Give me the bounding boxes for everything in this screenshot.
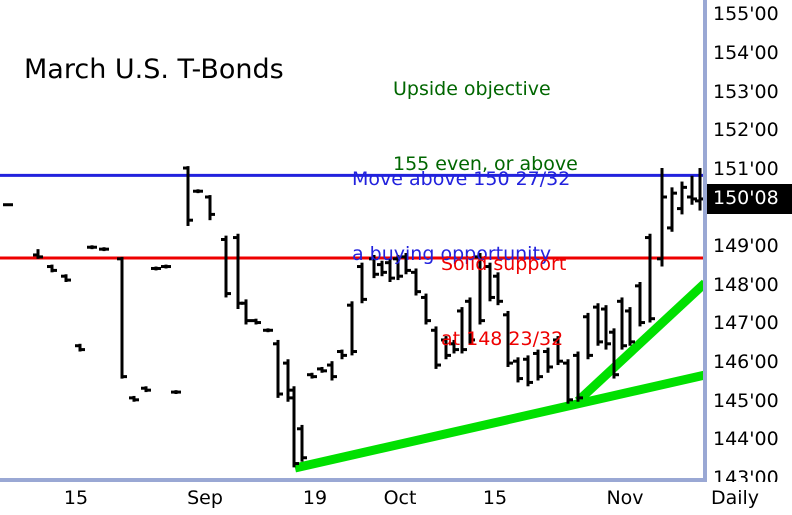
last-price-badge: 150'08 (707, 184, 792, 214)
price-axis-label: 151'00 (713, 158, 779, 180)
ohlc-bar (171, 390, 181, 394)
annotation-upside-line1: Upside objective (393, 77, 578, 102)
time-axis-label: Oct (384, 487, 417, 509)
annotation-breakout-line1: Move above 150 27/32 (352, 167, 570, 192)
ohlc-bar (297, 425, 307, 462)
price-axis[interactable]: 143'00144'00145'00146'00147'00148'00149'… (707, 0, 792, 479)
time-axis-label: Nov (606, 487, 643, 509)
ohlc-bar (141, 386, 151, 392)
ohlc-bar (337, 350, 347, 360)
ohlc-bar (75, 344, 85, 352)
ohlc-bar (273, 340, 283, 398)
ohlc-bar (233, 234, 243, 309)
ohlc-bar (129, 396, 139, 402)
ohlc-bar (205, 195, 215, 220)
interval-label: Daily (711, 487, 759, 509)
annotation-support-line2: at 148 23/32 (441, 327, 566, 352)
time-axis-label: 19 (303, 487, 327, 509)
time-axis-label: Sep (187, 487, 223, 509)
chart-title: March U.S. T-Bonds (24, 54, 284, 85)
chart-application: March U.S. T-Bonds Upside objective 155 … (0, 0, 792, 515)
ohlc-bar (47, 265, 57, 273)
ohlc-bar (677, 182, 687, 215)
ohlc-bar (87, 245, 97, 249)
ohlc-bar (645, 234, 655, 323)
price-axis-label: 148'00 (713, 274, 779, 296)
ohlc-bar (241, 299, 251, 324)
ohlc-bar (117, 257, 127, 379)
ohlc-bar (625, 307, 635, 346)
ohlc-bar (307, 373, 317, 379)
ohlc-bar (61, 274, 71, 282)
price-axis-label: 149'00 (713, 235, 779, 257)
ohlc-bar (151, 267, 161, 271)
price-axis-label: 154'00 (713, 42, 779, 64)
ohlc-bar (617, 297, 627, 349)
ohlc-bar (251, 319, 261, 325)
ohlc-bar (193, 189, 203, 193)
annotation-solid-support: Solid support at 148 23/32 (441, 202, 566, 402)
ohlc-bar (431, 326, 441, 368)
ohlc-bar (657, 168, 667, 267)
time-axis-label: 15 (483, 487, 507, 509)
ohlc-bar (635, 282, 645, 326)
ohlc-bar (263, 328, 273, 332)
price-axis-label: 153'00 (713, 81, 779, 103)
price-axis-label: 152'00 (713, 119, 779, 141)
price-axis-label: 147'00 (713, 312, 779, 334)
ohlc-bar (667, 187, 677, 231)
ohlc-bar (327, 361, 337, 380)
last-price-value: 150'08 (713, 187, 779, 209)
price-axis-label: 144'00 (713, 428, 779, 450)
price-axis-label: 155'00 (713, 3, 779, 25)
ohlc-bar (161, 265, 171, 269)
ohlc-bar (221, 236, 231, 298)
price-axis-label: 146'00 (713, 351, 779, 373)
ohlc-bar (99, 247, 109, 251)
annotation-support-line1: Solid support (441, 252, 566, 277)
time-axis-label: 15 (64, 487, 88, 509)
ohlc-bar (583, 313, 593, 359)
price-axis-label: 145'00 (713, 390, 779, 412)
ohlc-bar (283, 359, 293, 401)
ohlc-bar (317, 367, 327, 373)
time-axis[interactable]: Nov15Oct19Sep15 Daily (0, 482, 792, 515)
